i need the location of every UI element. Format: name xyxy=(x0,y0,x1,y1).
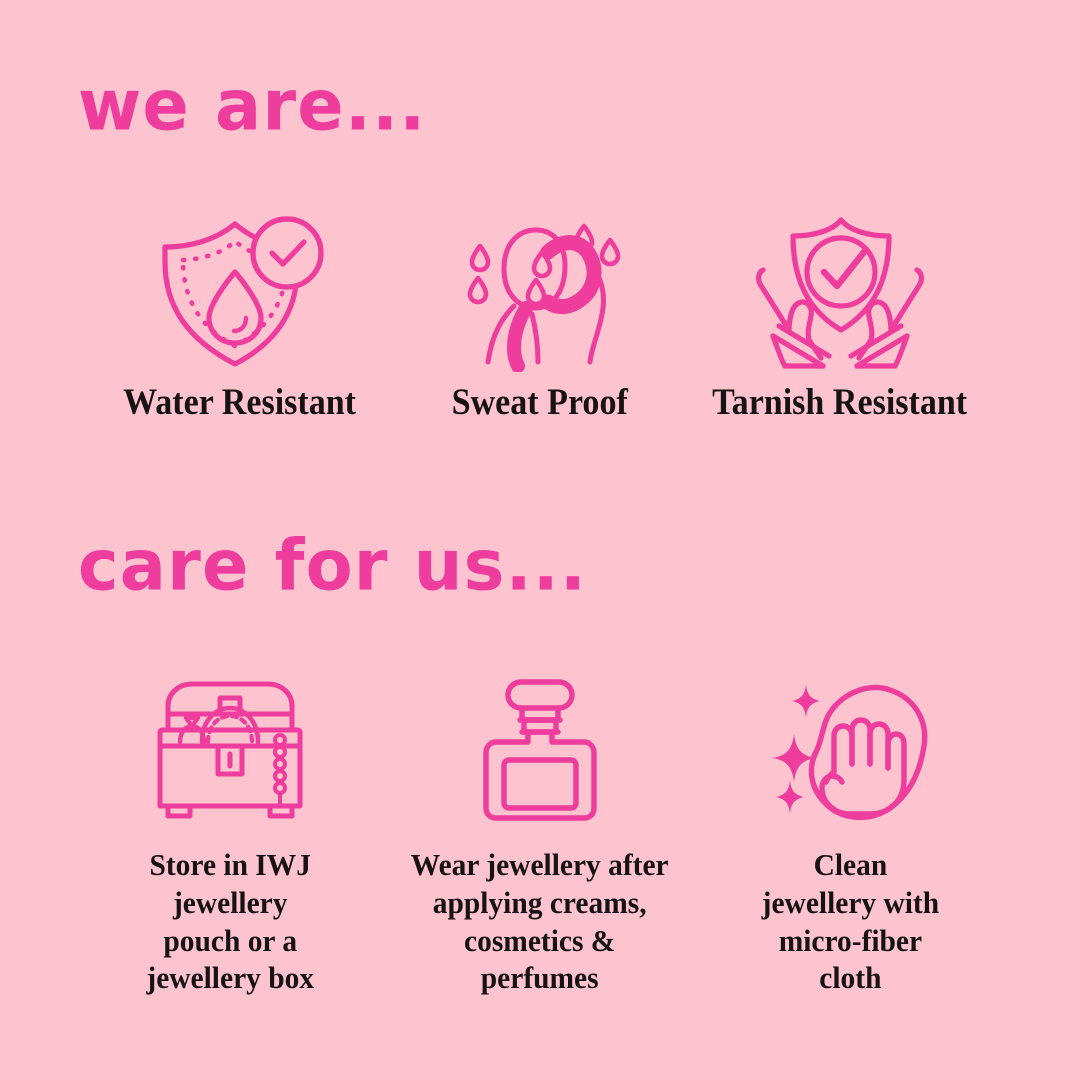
feature-tarnish-resistant: Tarnish Resistant xyxy=(690,214,990,423)
care-label-wear-after-cosmetics: Wear jewellery after applying creams, co… xyxy=(411,846,669,997)
feature-label-sweat-proof: Sweat Proof xyxy=(452,384,628,423)
care-label-store-in-pouch: Store in IWJ jewellery pouch or a jewell… xyxy=(146,846,314,997)
perfume-bottle-icon xyxy=(474,676,606,824)
feature-label-tarnish-resistant: Tarnish Resistant xyxy=(712,384,967,423)
heading-care-for-us: care for us... xyxy=(78,536,509,594)
person-wiping-sweat-icon xyxy=(452,214,628,372)
section-we-are: Water Resistant xyxy=(0,214,1080,423)
feature-wear-after-cosmetics: Wear jewellery after applying creams, co… xyxy=(385,676,695,997)
heading-we-are-text: we are... xyxy=(78,70,426,141)
heading-care-for-us-text: care for us... xyxy=(78,530,587,601)
feature-water-resistant: Water Resistant xyxy=(90,214,390,423)
jewellery-box-icon xyxy=(146,676,314,824)
care-label-clean-with-cloth: Clean jewellery with micro-fiber cloth xyxy=(761,846,938,997)
hands-holding-shield-check-icon xyxy=(749,214,931,372)
feature-label-water-resistant: Water Resistant xyxy=(124,384,357,423)
shield-water-drop-check-icon xyxy=(147,214,333,372)
section-care-for-us: Store in IWJ jewellery pouch or a jewell… xyxy=(0,676,1080,997)
feature-clean-with-cloth: Clean jewellery with micro-fiber cloth xyxy=(695,676,1005,997)
feature-store-in-pouch: Store in IWJ jewellery pouch or a jewell… xyxy=(75,676,385,997)
feature-sweat-proof: Sweat Proof xyxy=(390,214,690,423)
infographic-canvas: we are... xyxy=(0,0,1080,1080)
heading-we-are: we are... xyxy=(78,76,373,134)
hand-cleaning-cloth-sparkle-icon xyxy=(764,676,936,824)
